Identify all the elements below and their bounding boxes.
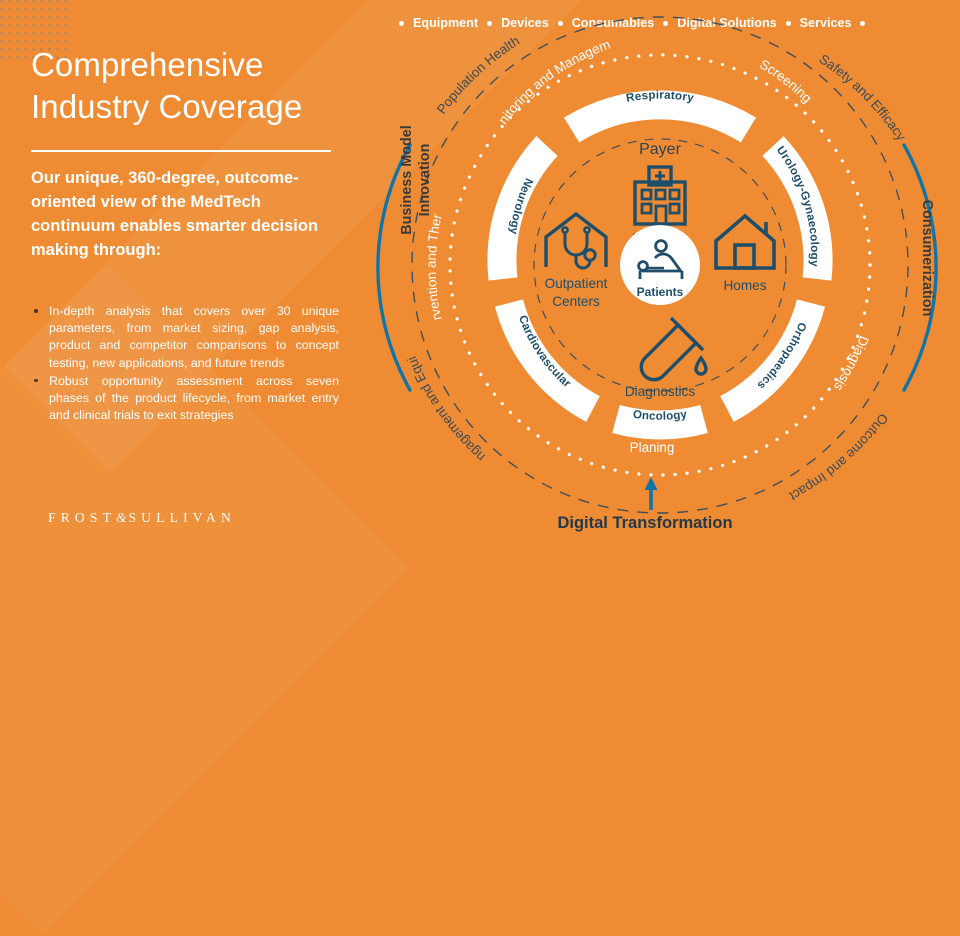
hospital-icon	[635, 167, 685, 224]
hub-label-homes: Homes	[723, 278, 766, 293]
test-tube-icon	[641, 318, 706, 380]
hub-node-homes[interactable]: Homes	[716, 216, 774, 293]
left-content-panel: Comprehensive Industry Coverage Our uniq…	[0, 0, 360, 540]
outer-label-safety-efficacy: Safety and Efficacy	[817, 51, 909, 143]
bottom-label-digital-transformation: Digital Transformation	[330, 514, 960, 533]
hub-node-outpatient-centers[interactable]: Outpatient Centers	[545, 214, 608, 309]
frost-sullivan-logo: FROST&SULLIVAN	[48, 510, 236, 526]
digital-transformation-arrow	[645, 477, 658, 510]
bullet-marker-icon	[34, 379, 38, 383]
home-icon	[716, 216, 774, 268]
staging-line2: Planing	[630, 440, 675, 455]
outer-label-diagnosis: Diagnosis	[831, 334, 872, 394]
subtitle-text: Our unique, 360-degree, outcome-oriented…	[31, 166, 331, 262]
bottom-label-text: Digital Transformation	[557, 514, 732, 532]
side-label-right-text: Consumerization	[919, 200, 935, 317]
staging-line1: Staging and	[616, 422, 687, 437]
side-label-left-text: Business Model Innovation	[398, 100, 434, 260]
bullet-marker-icon	[34, 309, 38, 313]
list-item: Robust opportunity assessment across sev…	[31, 373, 339, 425]
side-label-business-model-innovation: Business Model Innovation	[396, 100, 436, 260]
outpatient-stethoscope-icon	[546, 214, 606, 268]
hub-center-label: Patients	[637, 285, 684, 299]
hub-label-diagnostics: Diagnostics	[625, 384, 695, 399]
page-title: Comprehensive Industry Coverage	[31, 44, 351, 128]
ring-segment-orthopaedics[interactable]	[727, 303, 811, 409]
outer-label-monitoring-management: Monitoring and Management	[330, 0, 612, 127]
side-label-consumerization: Consumerization	[914, 173, 940, 343]
list-item-text: Robust opportunity assessment across sev…	[49, 374, 339, 422]
bullet-list: In-depth analysis that covers over 30 un…	[31, 303, 339, 425]
brand-first-word: FROST	[48, 510, 116, 525]
outer-label-outcome-impact: Outcome and Impact	[787, 411, 891, 504]
ring-segment-respiratory[interactable]	[572, 105, 749, 130]
industry-coverage-diagram: Respiratory Urology-Gynaecology Orthopae…	[330, 0, 960, 540]
title-divider	[31, 150, 331, 152]
ring-segment-neurology[interactable]	[502, 146, 547, 279]
hub-label-outpatient-line2: Centers	[552, 294, 600, 309]
hub-label-outpatient-line1: Outpatient	[545, 276, 608, 291]
payer-label: Payer	[639, 141, 681, 158]
brand-ampersand: &	[116, 510, 129, 525]
ring-label-oncology: Oncology	[632, 408, 688, 423]
list-item: In-depth analysis that covers over 30 un…	[31, 303, 339, 372]
hub-node-diagnostics[interactable]: Diagnostics	[625, 318, 706, 399]
brand-last-word: SULLIVAN	[129, 510, 236, 525]
hub-center[interactable]: Patients	[620, 225, 700, 305]
list-item-text: In-depth analysis that covers over 30 un…	[49, 304, 339, 370]
